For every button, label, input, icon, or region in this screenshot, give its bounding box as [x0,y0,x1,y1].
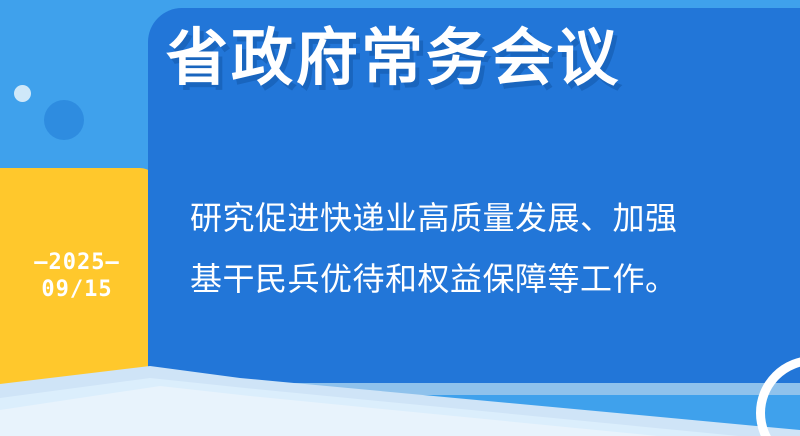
summary-line-2: 基干民兵优待和权益保障等工作。 [190,249,780,310]
pale-dot-icon [14,85,31,102]
date-month-day-label: 09/15 [41,276,112,304]
date-year-label: —2025— [34,249,119,277]
poster-canvas: —2025— 09/15 省政府常务会议 研究促进快递业高质量发展、加强 基干民… [0,0,800,436]
deep-blue-dot-icon [44,100,84,140]
page-title: 省政府常务会议 [166,24,621,93]
date-badge: —2025— 09/15 [0,168,158,384]
summary-line-1: 研究促进快递业高质量发展、加强 [190,188,780,249]
summary-text: 研究促进快递业高质量发展、加强 基干民兵优待和权益保障等工作。 [190,188,780,311]
